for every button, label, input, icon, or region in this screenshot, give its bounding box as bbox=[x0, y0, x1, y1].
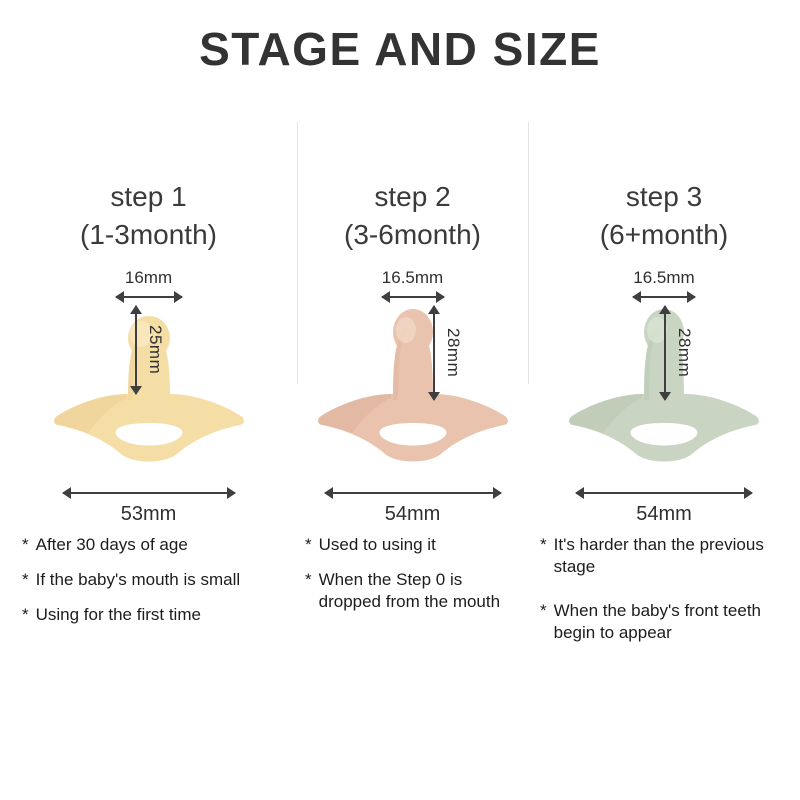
list-item: * Using for the first time bbox=[22, 604, 293, 626]
step-2-heading: step 2 (3-6month) bbox=[297, 178, 528, 254]
step-3-age: (6+month) bbox=[528, 216, 800, 254]
step-2-notes: * Used to using it * When the Step 0 is … bbox=[297, 534, 528, 613]
note-text: Using for the first time bbox=[36, 604, 293, 626]
step-2-age: (3-6month) bbox=[297, 216, 528, 254]
note-text: When the baby's front teeth begin to app… bbox=[554, 600, 792, 644]
note-text: If the baby's mouth is small bbox=[36, 569, 293, 591]
step-1-shield-width-arrow bbox=[63, 487, 235, 499]
step-1-teat-width-label: 16mm bbox=[79, 268, 219, 288]
step-3-heading: step 3 (6+month) bbox=[528, 178, 800, 254]
list-item: * It's harder than the previous stage bbox=[540, 534, 792, 578]
step-1-notes: * After 30 days of age * If the baby's m… bbox=[0, 534, 297, 626]
list-item: * Used to using it bbox=[305, 534, 526, 556]
step-column-1: step 1 (1-3month) 16mm bbox=[0, 178, 297, 738]
step-3-name: step 3 bbox=[528, 178, 800, 216]
step-2-shield-width-arrow bbox=[325, 487, 501, 499]
step-1-heading: step 1 (1-3month) bbox=[0, 178, 297, 254]
step-column-3: step 3 (6+month) 16.5mm bbox=[528, 178, 800, 738]
step-3-shield-width-label: 54mm bbox=[576, 502, 752, 526]
bullet-icon: * bbox=[22, 604, 29, 626]
step-1-shield-width-dimension: 53mm bbox=[63, 484, 235, 526]
pacifier-illustration-step-2 bbox=[313, 290, 513, 470]
step-1-name: step 1 bbox=[0, 178, 297, 216]
note-text: After 30 days of age bbox=[36, 534, 293, 556]
step-1-shield-width-label: 53mm bbox=[63, 502, 235, 526]
list-item: * If the baby's mouth is small bbox=[22, 569, 293, 591]
list-item: * When the baby's front teeth begin to a… bbox=[540, 600, 792, 644]
step-column-2: step 2 (3-6month) 16.5mm bbox=[297, 178, 528, 738]
step-3-teat-height-label: 28mm bbox=[674, 328, 694, 377]
bullet-icon: * bbox=[540, 534, 547, 556]
step-1-teat-height-arrow bbox=[130, 306, 142, 394]
step-3-figure: 16.5mm bbox=[528, 268, 800, 528]
step-1-teat-height-dimension: 25mm bbox=[130, 306, 165, 394]
step-2-figure: 16.5mm bbox=[297, 268, 528, 528]
step-1-teat-height-label: 25mm bbox=[145, 325, 165, 374]
step-2-teat-height-label: 28mm bbox=[443, 328, 463, 377]
note-text: When the Step 0 is dropped from the mout… bbox=[319, 569, 526, 613]
step-2-teat-width-label: 16.5mm bbox=[343, 268, 483, 288]
list-item: * After 30 days of age bbox=[22, 534, 293, 556]
step-1-age: (1-3month) bbox=[0, 216, 297, 254]
step-3-teat-height-arrow bbox=[659, 306, 671, 400]
steps-container: step 1 (1-3month) 16mm bbox=[0, 178, 800, 738]
bullet-icon: * bbox=[22, 534, 29, 556]
note-text: Used to using it bbox=[319, 534, 526, 556]
bullet-icon: * bbox=[22, 569, 29, 591]
bullet-icon: * bbox=[540, 600, 547, 622]
page-title: STAGE AND SIZE bbox=[0, 22, 800, 76]
note-text: It's harder than the previous stage bbox=[554, 534, 792, 578]
step-3-notes: * It's harder than the previous stage * … bbox=[528, 534, 800, 644]
step-2-shield-width-dimension: 54mm bbox=[325, 484, 501, 526]
step-2-name: step 2 bbox=[297, 178, 528, 216]
bullet-icon: * bbox=[305, 534, 312, 556]
step-3-shield-width-arrow bbox=[576, 487, 752, 499]
list-item: * When the Step 0 is dropped from the mo… bbox=[305, 569, 526, 613]
bullet-icon: * bbox=[305, 569, 312, 591]
step-3-teat-height-dimension: 28mm bbox=[659, 306, 694, 400]
step-1-figure: 16mm bbox=[0, 268, 297, 528]
step-3-teat-width-label: 16.5mm bbox=[594, 268, 734, 288]
step-2-teat-height-dimension: 28mm bbox=[428, 306, 463, 400]
step-3-shield-width-dimension: 54mm bbox=[576, 484, 752, 526]
step-2-teat-height-arrow bbox=[428, 306, 440, 400]
step-2-shield-width-label: 54mm bbox=[325, 502, 501, 526]
